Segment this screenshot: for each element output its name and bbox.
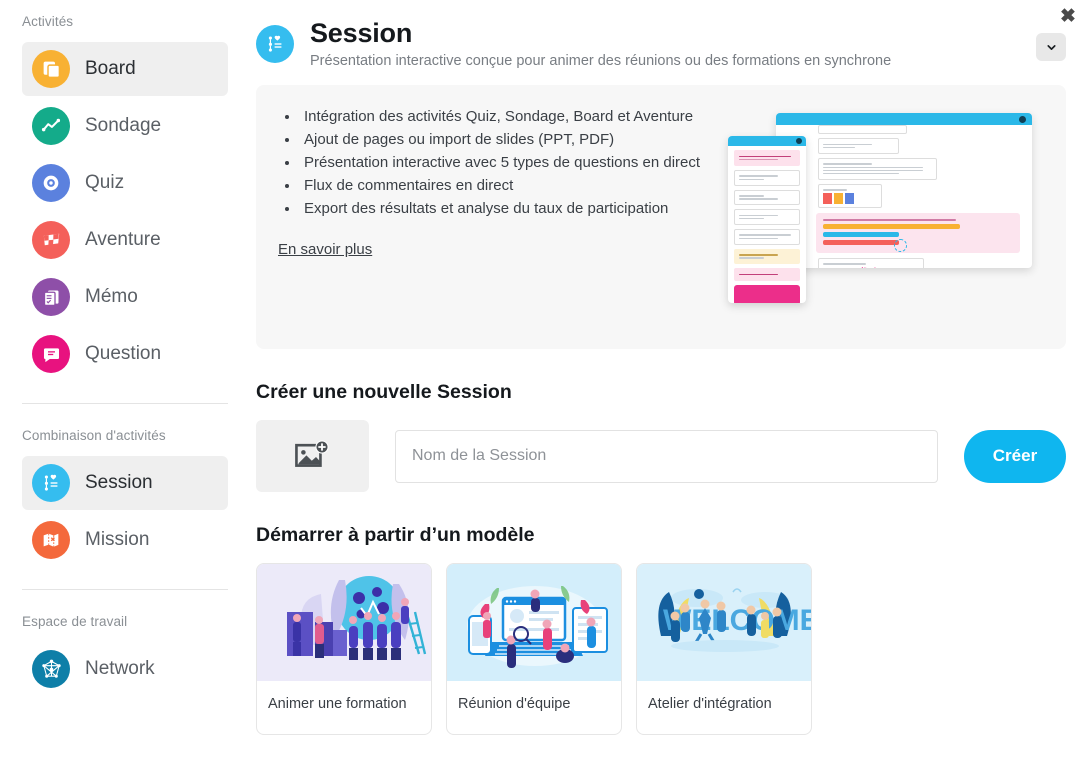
add-image-icon[interactable] [256,420,369,492]
session-icon [256,25,294,63]
sidebar-group-label-combinaison: Combinaison d'activités [0,428,250,453]
sidebar-item-label: Question [85,343,161,365]
list-item: Export des résultats et analyse du taux … [300,198,728,220]
preview-titlebar [776,113,1032,125]
memo-icon [32,278,70,316]
main-panel: ✖ Session Présentation interactive conçu… [250,0,1088,772]
list-item: Présentation interactive avec 5 types de… [300,152,728,174]
chevron-down-icon[interactable] [1036,33,1066,61]
list-item: Intégration des activités Quiz, Sondage,… [300,106,728,128]
sidebar-item-quiz[interactable]: Quiz [22,156,228,210]
sidebar-item-label: Mémo [85,286,138,308]
sidebar: Activités Board Sondage Quiz [0,0,250,772]
sidebar-item-label: Sondage [85,115,161,137]
feature-list-wrap: Intégration des activités Quiz, Sondage,… [278,103,728,329]
session-name-input[interactable] [395,430,938,483]
learn-more-link[interactable]: En savoir plus [278,241,372,258]
template-card-label: Atelier d'intégration [637,681,811,734]
feature-list: Intégration des activités Quiz, Sondage,… [278,106,728,219]
sidebar-item-aventure[interactable]: Aventure [22,213,228,267]
board-icon [32,50,70,88]
sidebar-item-label: Network [85,658,155,680]
sidebar-item-label: Mission [85,529,149,551]
template-card-label: Réunion d'équipe [447,681,621,734]
sidebar-group-label-espace: Espace de travail [0,614,250,639]
template-card-animer-une-formation[interactable]: Animer une formation [256,563,432,735]
sidebar-item-network[interactable]: Network [22,642,228,696]
quiz-icon [32,164,70,202]
flag-icon [32,221,70,259]
activity-picker-dialog: Activités Board Sondage Quiz [0,0,1088,772]
page-subtitle: Présentation interactive conçue pour ani… [310,53,891,69]
sidebar-item-memo[interactable]: Mémo [22,270,228,324]
activity-info-card: Intégration des activités Quiz, Sondage,… [256,85,1066,349]
mission-icon [32,521,70,559]
sidebar-item-mission[interactable]: Mission [22,513,228,567]
page-title: Session [310,18,891,48]
network-icon [32,650,70,688]
sidebar-item-sondage[interactable]: Sondage [22,99,228,153]
sidebar-item-label: Aventure [85,229,161,251]
poll-icon [32,107,70,145]
session-app-preview: Attractive [728,103,1044,329]
sidebar-item-question[interactable]: Question [22,327,228,381]
sidebar-item-label: Quiz [85,172,124,194]
preview-mobile-window [728,136,806,303]
sidebar-item-board[interactable]: Board [22,42,228,96]
close-icon[interactable]: ✖ [1055,3,1081,29]
template-card-atelier-d-integration[interactable]: WELCOME [636,563,812,735]
create-section-title: Créer une nouvelle Session [256,381,1088,404]
sidebar-item-label: Board [85,58,136,80]
create-session-form: Créer [256,420,1088,492]
sidebar-divider-2 [22,589,228,590]
sidebar-divider-1 [22,403,228,404]
sidebar-item-label: Session [85,472,153,494]
training-illustration [257,564,431,681]
templates-section-title: Démarrer à partir d’un modèle [256,524,1088,547]
welcome-illustration: WELCOME [637,564,811,681]
activity-header: Session Présentation interactive conçue … [250,0,1088,69]
meeting-illustration [447,564,621,681]
session-icon [32,464,70,502]
template-list: Animer une formation [256,563,1088,735]
sidebar-group-label-activites: Activités [0,14,250,39]
create-button[interactable]: Créer [964,430,1066,483]
template-card-reunion-d-equipe[interactable]: Réunion d'équipe [446,563,622,735]
question-icon [32,335,70,373]
sidebar-item-session[interactable]: Session [22,456,228,510]
preview-desktop-window: Attractive [776,113,1032,268]
template-card-label: Animer une formation [257,681,431,734]
list-item: Flux de commentaires en direct [300,175,728,197]
list-item: Ajout de pages ou import de slides (PPT,… [300,129,728,151]
